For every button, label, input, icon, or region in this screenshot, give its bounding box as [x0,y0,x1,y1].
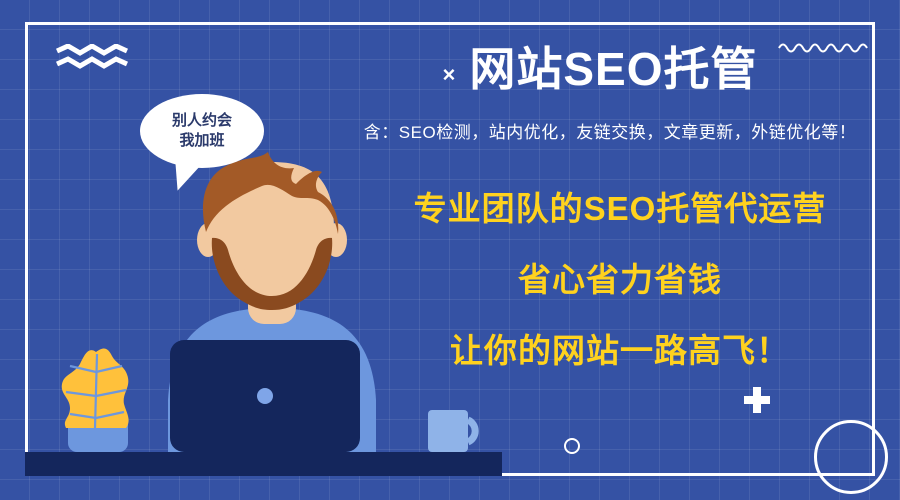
character-ear-left [197,223,219,257]
headline-3: 让你的网站一路高飞！ [370,334,870,367]
headline-group: 专业团队的SEO托管代运营 省心省力省钱 让你的网站一路高飞！ [370,192,870,367]
plant-pot [68,412,128,452]
speech-bubble-line-1: 别人约会 [172,111,232,131]
plant-leaf-veins [66,354,126,428]
page-subtitle: 含：SEO检测，站内优化，友链交换，文章更新，外链优化等！ [330,118,890,143]
headline-1: 专业团队的SEO托管代运营 [370,192,870,225]
plant-leaf [62,349,129,428]
page-title-row: × 网站SEO托管 [330,44,870,95]
character-face [210,162,334,296]
plus-icon [744,387,770,413]
character-neck [248,278,296,324]
desk-surface [25,452,502,476]
character-ear-right [325,223,347,257]
laptop [170,340,360,452]
wave-lines-icon [56,44,128,70]
character-beard [212,238,332,310]
character-mouth [244,259,300,277]
character-shirt [168,308,376,452]
cross-bullet-icon: × [442,64,455,86]
speech-bubble: 别人约会 我加班 [140,94,264,168]
mug-body [428,410,468,452]
corner-circle-icon [814,420,888,494]
speech-bubble-line-2: 我加班 [179,131,224,151]
laptop-logo-dot [257,388,273,404]
headline-2: 省心省力省钱 [370,263,870,296]
mug-handle [468,420,475,442]
page-title: 网站SEO托管 [469,44,757,95]
seo-promo-banner: 别人约会 我加班 × 网站SEO托管 含：SEO检测，站内优化，友链交换，文章更… [0,0,900,500]
circle-outline-icon [564,438,580,454]
